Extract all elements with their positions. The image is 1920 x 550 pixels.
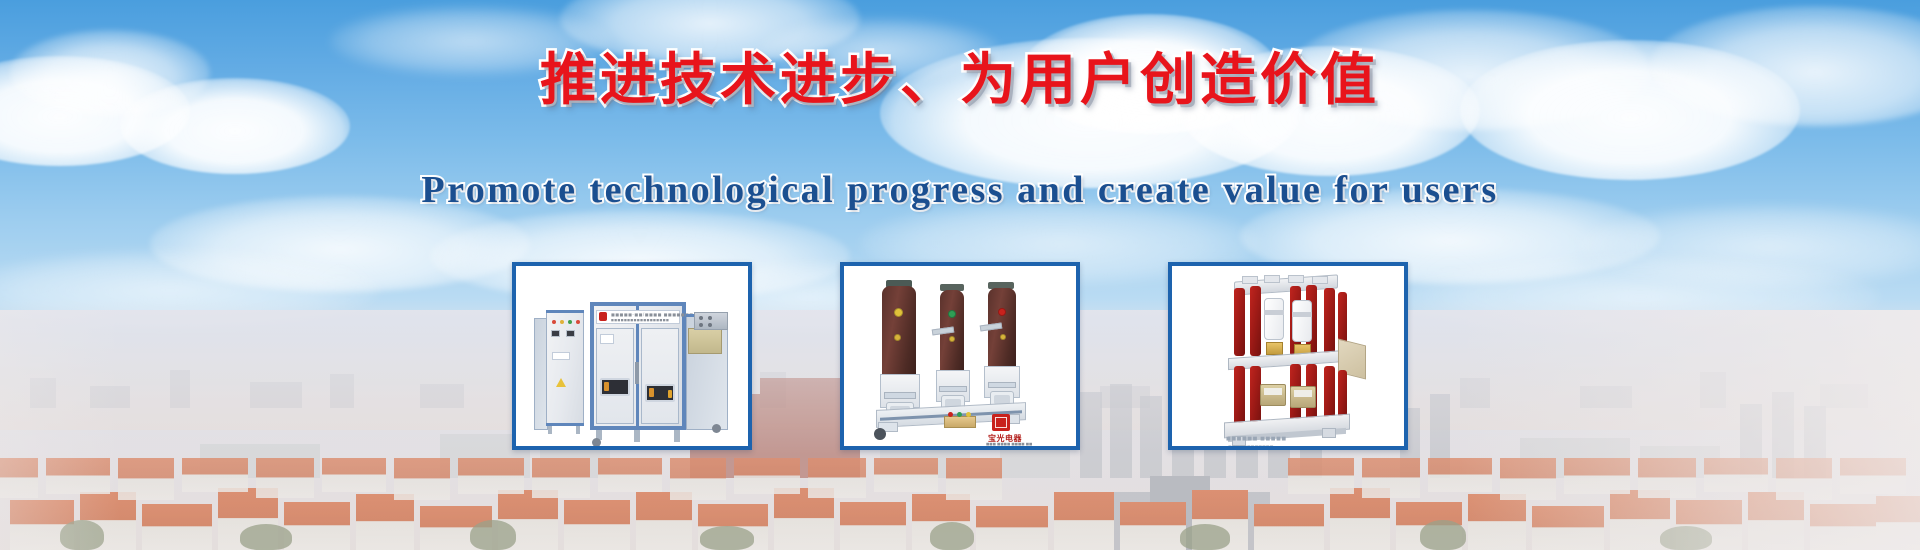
product-frame-2[interactable]: 宝光电器 ■■■ ■■■■ ■■■■ ■■	[840, 262, 1080, 450]
product-caption: ■■■■■■ ■■■■■	[1226, 436, 1287, 442]
product-image-vacuum-poles: 宝光电器 ■■■ ■■■■ ■■■■ ■■	[844, 266, 1076, 446]
product-frame-1[interactable]: ■■■■■-■■/■■■■ ■■■■■■■ ■■■■■■■■■■■■■■■■■■	[512, 262, 752, 450]
banner-headline-chinese: 推进技术进步、为用户创造价值	[0, 52, 1920, 111]
product-image-red-contactor: ■■■■■■ ■■■■■ ■■■■■■■■■■■■	[1172, 266, 1404, 446]
promo-banner: 推进技术进步、为用户创造价值 Promote technological pro…	[0, 0, 1920, 550]
product-frame-3[interactable]: ■■■■■■ ■■■■■ ■■■■■■■■■■■■	[1168, 262, 1408, 450]
banner-subtitle-english: Promote technological progress and creat…	[0, 168, 1920, 212]
product-gallery: ■■■■■-■■/■■■■ ■■■■■■■ ■■■■■■■■■■■■■■■■■■	[0, 262, 1920, 450]
product-image-switchgear-cabinet: ■■■■■-■■/■■■■ ■■■■■■■ ■■■■■■■■■■■■■■■■■■	[516, 266, 748, 446]
